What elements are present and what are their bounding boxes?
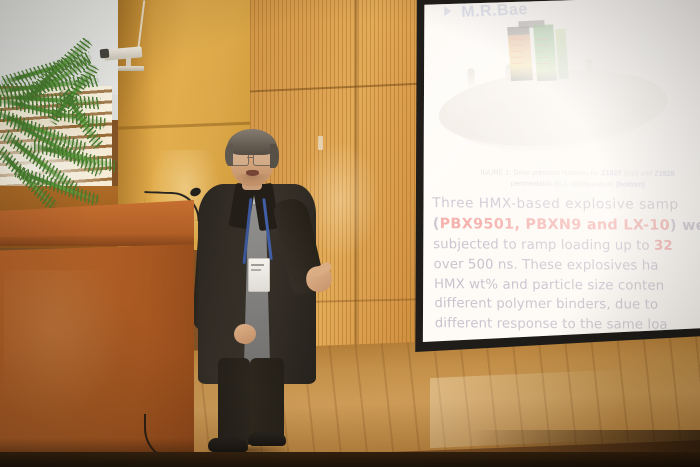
name-badge-text-line-2	[251, 269, 261, 271]
presenter-hair-right	[270, 144, 279, 168]
lectern-top-surface	[0, 200, 194, 238]
camera-lens	[100, 49, 110, 59]
triangle-bullet-icon	[444, 6, 451, 16]
presenter-left-shoe	[208, 438, 248, 452]
name-badge-text-line	[251, 264, 264, 266]
slide-body-run: Three HMX-based explosive samp	[432, 195, 679, 213]
lectern-sheen	[4, 270, 124, 420]
presenter-left-leg	[218, 358, 250, 446]
slide-body-line: (PBX9501, PBXN9 and LX-10) we	[433, 214, 700, 237]
slide-body-line: over 500 ns. These explosives ha	[433, 256, 700, 277]
slide-body-run: HMX wt% and particle size conten	[434, 277, 665, 294]
presenter	[194, 126, 354, 456]
lectern	[0, 200, 194, 467]
slide-figure	[418, 18, 700, 170]
slide-body-highlight: 32	[654, 238, 673, 253]
slide-body-line: subjected to ramp loading up to 32	[433, 236, 700, 257]
caption-part-4: Z1828	[654, 169, 675, 178]
presenter-right-shoe	[248, 432, 286, 446]
palm-plant	[0, 58, 134, 208]
caption-part-5: perimental/Al (C-L configuration)	[511, 179, 616, 189]
slide-body-run: subjected to ramp loading up to	[433, 237, 654, 254]
slide-figure-caption: IGURE 1. Drive pressure histories for Z1…	[444, 166, 700, 190]
caption-part-1: IGURE 1. Drive pressure histories for	[480, 167, 601, 177]
slide-body-line: HMX wt% and particle size conten	[434, 276, 700, 297]
slide-content: M.R.Bae	[422, 0, 700, 360]
caption-part-2: Z1827	[601, 168, 622, 177]
projection-screen: M.R.Bae	[400, 0, 700, 392]
slide-body-line: different polymer binders, due to	[434, 296, 700, 317]
slide-body-run: over 500 ns. These explosives ha	[433, 257, 658, 274]
slide-body-line: Three HMX-based explosive samp	[432, 194, 700, 215]
slide-body-run: different response to the same loa	[435, 316, 668, 333]
caption-part-3: (top) and	[621, 168, 654, 177]
slide-body-run: ) we	[670, 218, 700, 234]
presenter-mouth	[246, 170, 259, 176]
eyeglass-bridge	[247, 157, 253, 158]
presenter-hair-left	[225, 144, 233, 166]
slide-body-text: Three HMX-based explosive samp(PBX9501, …	[432, 194, 700, 337]
slide-body-highlight: PBX9501, PBXN9 and LX-10	[439, 216, 670, 234]
conference-room-photo: M.R.Bae	[0, 0, 700, 467]
presenter-left-hand	[234, 324, 256, 344]
slide-body-run: different polymer binders, due to	[434, 297, 658, 314]
bottom-dark-band	[0, 452, 700, 467]
figure-overexposure-glow	[418, 18, 700, 170]
caption-part-6: (bottom)	[616, 180, 645, 189]
